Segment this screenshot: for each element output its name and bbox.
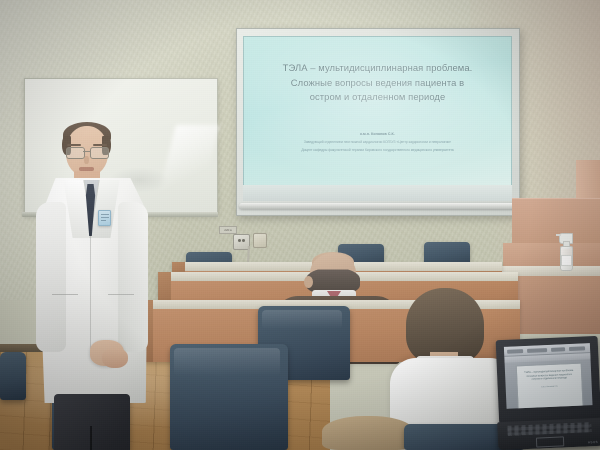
coat-sleeve-left xyxy=(36,202,66,352)
chair-back-row xyxy=(424,242,470,264)
laptop-trackpad[interactable] xyxy=(536,436,564,447)
trousers xyxy=(54,394,130,450)
outlet-voltage-label: 220 в xyxy=(219,226,237,234)
toolbar-item[interactable] xyxy=(569,346,585,351)
trouser-leg-gap xyxy=(90,426,92,450)
toolbar-item[interactable] xyxy=(527,348,547,353)
slide-affiliation-line-1: Заведующий отделением неотложной кардиол… xyxy=(253,140,503,145)
chair-highlight xyxy=(174,348,280,376)
coat-placket xyxy=(90,236,91,356)
chair-highlight xyxy=(262,310,342,329)
laptop-keyboard[interactable] xyxy=(507,422,591,436)
projection-screen-surface: ТЭЛА – мультидисциплинарная проблема. Сл… xyxy=(243,36,512,187)
presenter xyxy=(38,126,148,450)
slide-content: ТЭЛА – мультидисциплинарная проблема. Сл… xyxy=(244,37,511,186)
slide-title-line-3: остром и отдаленном периоде xyxy=(253,90,503,105)
power-outlet-secondary xyxy=(253,233,267,248)
eyeglass-lens-right xyxy=(90,147,109,159)
laptop-brand-label: ASUS xyxy=(588,440,598,444)
mouth xyxy=(79,167,94,171)
slide-presenter-name: к.м.н. Кононов С.К. xyxy=(360,132,395,137)
laptop[interactable]: ТЭЛА – мультидисциплинарная проблема. Сл… xyxy=(496,336,600,450)
coat-pocket-right xyxy=(108,294,134,295)
id-badge xyxy=(98,210,111,226)
badge-text-line xyxy=(101,217,109,218)
projection-screen: ТЭЛА – мультидисциплинарная проблема. Сл… xyxy=(236,28,520,216)
laptop-lid: ТЭЛА – мультидисциплинарная проблема. Сл… xyxy=(496,336,600,424)
outlet-hole xyxy=(238,239,241,242)
eyeglass-bridge xyxy=(83,151,90,152)
toolbar-item[interactable] xyxy=(507,349,523,354)
spray-bottle-icon xyxy=(559,233,572,269)
wood-partition-upper xyxy=(512,198,600,245)
laptop-screen[interactable]: ТЭЛА – мультидисциплинарная проблема. Сл… xyxy=(504,343,593,409)
screen-lower-band xyxy=(243,185,512,201)
ear xyxy=(304,276,313,288)
coat-sleeve-right xyxy=(118,202,148,352)
auditorium-chair xyxy=(170,344,288,450)
lecture-hall-photo: ТЭЛА – мультидисциплинарная проблема. Сл… xyxy=(0,0,600,450)
hand-overlap xyxy=(102,348,128,368)
slide-title-line-1: ТЭЛА – мультидисциплинарная проблема. xyxy=(253,61,503,76)
badge-text-line xyxy=(101,214,109,215)
eyebrow-right xyxy=(93,144,107,146)
hair xyxy=(322,416,414,450)
laptop-slide-presenter: к.м.н. Кононов С.К. xyxy=(522,385,578,390)
laptop-base: ASUS xyxy=(497,418,600,450)
badge-text-line xyxy=(101,220,106,221)
outlet-hole xyxy=(242,239,245,242)
nose xyxy=(84,156,89,164)
spray-bottle-nozzle xyxy=(556,234,561,236)
eyebrow-left xyxy=(67,144,81,146)
slide-title-line-2: Сложные вопросы ведения пациента в xyxy=(253,76,503,91)
screen-roller-bar xyxy=(239,203,517,209)
toolbar-item[interactable] xyxy=(551,347,565,352)
spray-bottle-label xyxy=(561,255,572,266)
auditorium-chair xyxy=(0,352,26,400)
slide-affiliation-line-2: Доцент кафедры факультетской терапии Кир… xyxy=(253,148,503,153)
coat-pocket-left xyxy=(52,294,78,295)
whiteboard-glare xyxy=(158,125,220,197)
eyeglass-lens-left xyxy=(66,147,85,159)
laptop-slide-preview[interactable]: ТЭЛА – мультидисциплинарная проблема. Сл… xyxy=(516,363,584,409)
